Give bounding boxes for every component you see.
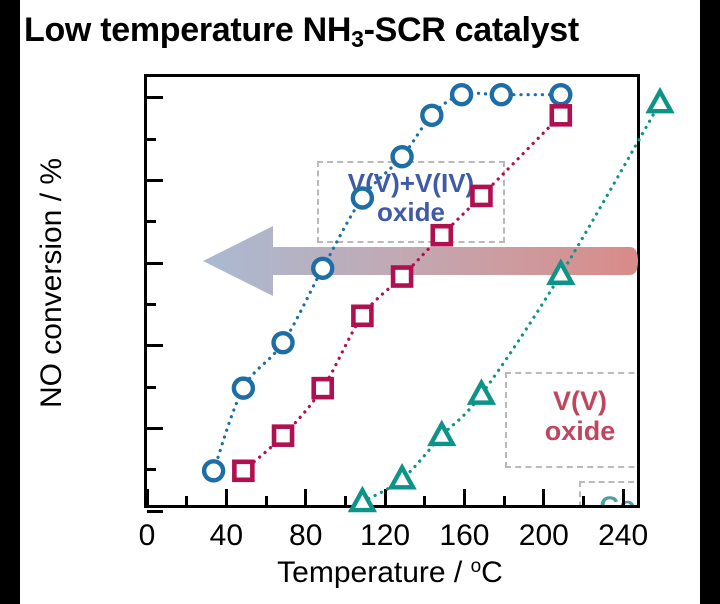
- x-axis-tick: [384, 489, 387, 505]
- y-axis-tick-label: 40: [0, 329, 9, 363]
- x-axis-minor-tick: [423, 496, 426, 505]
- y-axis-minor-tick: [147, 220, 156, 223]
- figure-canvas: Low temperature NH3-SCR catalyst NO conv…: [0, 0, 720, 604]
- x-axis-tick-label: 240: [578, 519, 668, 553]
- plot-area: V(V)+V(IV) oxide V(V) oxide Conventional…: [144, 74, 640, 508]
- y-axis-tick-label: 80: [0, 163, 9, 197]
- x-axis-minor-tick: [503, 496, 506, 505]
- x-axis-tick-label: 160: [419, 519, 509, 553]
- y-axis-tick-label: 20: [0, 411, 9, 445]
- x-axis-tick-label: 0: [102, 519, 192, 553]
- annotation-line-1: V(V): [553, 386, 607, 416]
- figure-page: Low temperature NH3-SCR catalyst NO conv…: [20, 0, 700, 604]
- annotation-line-2: oxide: [545, 416, 616, 446]
- plot-inner: V(V)+V(IV) oxide V(V) oxide Conventional…: [147, 77, 637, 505]
- annotation-vv-viv-oxide: V(V)+V(IV) oxide: [317, 161, 505, 243]
- y-axis-tick: [147, 344, 163, 347]
- x-axis-tick: [463, 489, 466, 505]
- degree-symbol: o: [471, 556, 482, 577]
- x-axis-tick: [225, 489, 228, 505]
- annotation-conventional-catalyst: Conventional catalyst: [579, 481, 637, 505]
- figure-title: Low temperature NH3-SCR catalyst: [20, 10, 714, 53]
- x-axis-minor-tick: [265, 496, 268, 505]
- annotation-line-2: oxide: [377, 197, 445, 227]
- x-axis-tick: [542, 489, 545, 505]
- annotation-line-1: Conventional: [599, 491, 637, 505]
- title-suffix: -SCR catalyst: [364, 11, 579, 49]
- y-axis-minor-tick: [147, 386, 156, 389]
- annotation-vv-oxide: V(V) oxide: [505, 372, 637, 468]
- y-axis-tick: [147, 510, 163, 513]
- y-axis-minor-tick: [147, 138, 156, 141]
- y-axis-tick-label: 60: [0, 246, 9, 280]
- y-axis-label: NO conversion / %: [35, 133, 69, 433]
- x-axis-tick-label: 40: [181, 519, 271, 553]
- x-axis-tick: [304, 489, 307, 505]
- y-axis-tick: [147, 427, 163, 430]
- x-axis-minor-tick: [185, 496, 188, 505]
- y-axis-tick: [147, 262, 163, 265]
- x-axis-tick-label: 200: [499, 519, 589, 553]
- x-axis-tick: [622, 489, 625, 505]
- x-axis-tick-label: 120: [340, 519, 430, 553]
- x-axis-minor-tick: [582, 496, 585, 505]
- x-axis-tick-label: 80: [261, 519, 351, 553]
- title-subscript: 3: [351, 26, 364, 52]
- x-axis-minor-tick: [344, 496, 347, 505]
- x-axis-tick: [146, 489, 149, 505]
- y-axis-tick: [147, 96, 163, 99]
- data-point-triangle: [649, 91, 671, 111]
- y-axis-tick: [147, 179, 163, 182]
- y-axis-minor-tick: [147, 468, 156, 471]
- y-axis-tick-label: 100: [0, 81, 9, 115]
- x-axis-label: Temperature / oC: [120, 556, 660, 590]
- annotation-line-1: V(V)+V(IV): [348, 168, 474, 198]
- y-axis-tick-label: 0: [0, 494, 9, 528]
- title-prefix: Low temperature NH: [24, 11, 351, 49]
- y-axis-minor-tick: [147, 303, 156, 306]
